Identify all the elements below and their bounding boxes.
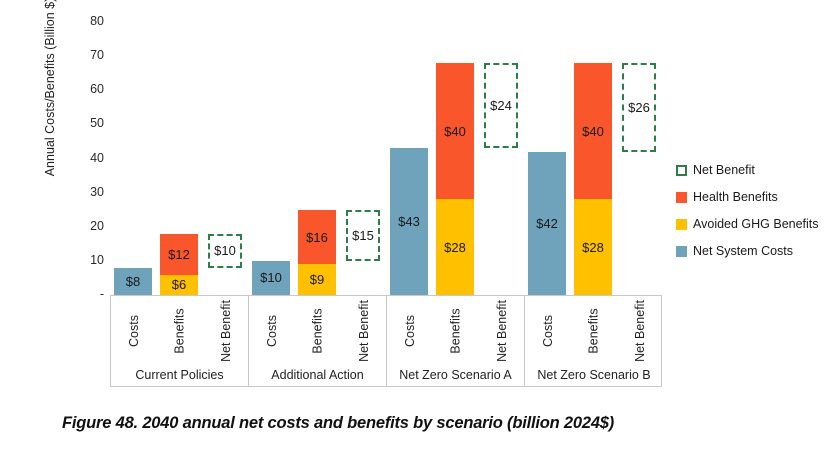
bar-net-system-costs[interactable]: $8 bbox=[114, 268, 152, 295]
x-axis-group: CostsBenefitsNet BenefitNet Zero Scenari… bbox=[525, 296, 663, 386]
net-benefit-value-label: $24 bbox=[490, 98, 512, 113]
bar-group: $8$6$12$10 bbox=[110, 16, 248, 295]
bar-value-label: $28 bbox=[582, 240, 604, 255]
net-benefit-box[interactable]: $24 bbox=[484, 63, 518, 148]
net-benefit-value-label: $26 bbox=[628, 100, 650, 115]
bar-value-label: $28 bbox=[444, 240, 466, 255]
bar-net-system-costs[interactable]: $42 bbox=[528, 152, 566, 295]
x-tick-net-benefit[interactable]: Net Benefit bbox=[605, 300, 675, 362]
bar-group: $42$28$40$26 bbox=[524, 16, 662, 295]
legend-item[interactable]: Avoided GHG Benefits bbox=[676, 217, 836, 231]
bar-value-label: $40 bbox=[582, 124, 604, 139]
x-tick-label: Benefits bbox=[173, 308, 187, 353]
plot-area: $8$6$12$10$10$9$16$15$43$28$40$24$42$28$… bbox=[110, 16, 662, 295]
legend-label: Health Benefits bbox=[693, 190, 778, 204]
net-benefit-value-label: $10 bbox=[214, 243, 236, 258]
y-tick-label: 70 bbox=[64, 49, 104, 62]
segment-net-system-costs: $8 bbox=[114, 268, 152, 295]
x-tick-label: Benefits bbox=[587, 308, 601, 353]
bar-value-label: $12 bbox=[168, 247, 190, 262]
x-group-label: Current Policies bbox=[111, 368, 248, 382]
x-axis-group: CostsBenefitsNet BenefitNet Zero Scenari… bbox=[387, 296, 525, 386]
segment-avoided-ghg-benefits: $28 bbox=[574, 199, 612, 295]
segment-health-benefits: $40 bbox=[574, 63, 612, 200]
legend-swatch-icon bbox=[676, 219, 687, 230]
x-tick-label: Costs bbox=[265, 315, 279, 347]
legend-item[interactable]: Health Benefits bbox=[676, 190, 836, 204]
bar-value-label: $6 bbox=[172, 277, 186, 292]
bar-value-label: $42 bbox=[536, 216, 558, 231]
chart-legend: Net BenefitHealth BenefitsAvoided GHG Be… bbox=[676, 163, 836, 271]
legend-label: Net System Costs bbox=[693, 244, 793, 258]
bar-net-system-costs[interactable]: $43 bbox=[390, 148, 428, 295]
x-tick-label: Costs bbox=[541, 315, 555, 347]
legend-swatch-icon bbox=[676, 246, 687, 257]
bar-value-label: $43 bbox=[398, 214, 420, 229]
bar-value-label: $16 bbox=[306, 230, 328, 245]
y-tick-label: 10 bbox=[64, 254, 104, 267]
legend-item[interactable]: Net Benefit bbox=[676, 163, 836, 177]
net-benefit-value-label: $15 bbox=[352, 228, 374, 243]
x-tick-label: Net Benefit bbox=[633, 300, 647, 362]
bar-value-label: $9 bbox=[310, 272, 324, 287]
bar-value-label: $8 bbox=[126, 274, 140, 289]
x-axis-area: CostsBenefitsNet BenefitCurrent Policies… bbox=[110, 295, 662, 387]
x-tick-label: Benefits bbox=[311, 308, 325, 353]
segment-net-system-costs: $42 bbox=[528, 152, 566, 295]
y-tick-label: 40 bbox=[64, 152, 104, 165]
segment-health-benefits: $12 bbox=[160, 234, 198, 275]
bar-benefits-stack[interactable]: $28$40 bbox=[574, 63, 612, 295]
net-benefit-box[interactable]: $10 bbox=[208, 234, 242, 268]
bar-group: $43$28$40$24 bbox=[386, 16, 524, 295]
y-axis-ticks: 8070605040302010- bbox=[62, 0, 104, 300]
legend-swatch-icon bbox=[676, 192, 687, 203]
x-axis-group: CostsBenefitsNet BenefitAdditional Actio… bbox=[249, 296, 387, 386]
x-tick-label: Benefits bbox=[449, 308, 463, 353]
x-axis-group: CostsBenefitsNet BenefitCurrent Policies bbox=[111, 296, 249, 386]
x-tick-label: Costs bbox=[127, 315, 141, 347]
bar-net-system-costs[interactable]: $10 bbox=[252, 261, 290, 295]
y-tick-label: 80 bbox=[64, 15, 104, 28]
y-tick-label: 50 bbox=[64, 117, 104, 130]
legend-item[interactable]: Net System Costs bbox=[676, 244, 836, 258]
segment-avoided-ghg-benefits: $6 bbox=[160, 275, 198, 295]
bar-benefits-stack[interactable]: $6$12 bbox=[160, 234, 198, 295]
bar-value-label: $40 bbox=[444, 124, 466, 139]
y-axis-title: Annual Costs/Benefits (Billion $) bbox=[43, 0, 57, 197]
bar-benefits-stack[interactable]: $9$16 bbox=[298, 210, 336, 295]
net-benefit-box[interactable]: $26 bbox=[622, 63, 656, 152]
legend-label: Avoided GHG Benefits bbox=[693, 217, 819, 231]
y-tick-label: 60 bbox=[64, 83, 104, 96]
x-group-label: Additional Action bbox=[249, 368, 386, 382]
segment-health-benefits: $40 bbox=[436, 63, 474, 200]
segment-net-system-costs: $43 bbox=[390, 148, 428, 295]
y-tick-label: 30 bbox=[64, 186, 104, 199]
x-tick-label: Net Benefit bbox=[219, 300, 233, 362]
x-group-label: Net Zero Scenario A bbox=[387, 368, 524, 382]
x-tick-label: Costs bbox=[403, 315, 417, 347]
figure-container: Annual Costs/Benefits (Billion $) 807060… bbox=[0, 0, 838, 454]
segment-avoided-ghg-benefits: $9 bbox=[298, 264, 336, 295]
x-tick-label: Net Benefit bbox=[357, 300, 371, 362]
x-group-label: Net Zero Scenario B bbox=[525, 368, 663, 382]
x-tick-label: Net Benefit bbox=[495, 300, 509, 362]
segment-health-benefits: $16 bbox=[298, 210, 336, 265]
y-tick-label: 20 bbox=[64, 220, 104, 233]
legend-swatch-icon bbox=[676, 165, 687, 176]
bar-value-label: $10 bbox=[260, 270, 282, 285]
figure-caption: Figure 48. 2040 annual net costs and ben… bbox=[62, 414, 614, 433]
bar-group: $10$9$16$15 bbox=[248, 16, 386, 295]
segment-avoided-ghg-benefits: $28 bbox=[436, 199, 474, 295]
bar-benefits-stack[interactable]: $28$40 bbox=[436, 63, 474, 295]
net-benefit-box[interactable]: $15 bbox=[346, 210, 380, 261]
segment-net-system-costs: $10 bbox=[252, 261, 290, 295]
y-tick-label: - bbox=[64, 288, 104, 301]
legend-label: Net Benefit bbox=[693, 163, 755, 177]
